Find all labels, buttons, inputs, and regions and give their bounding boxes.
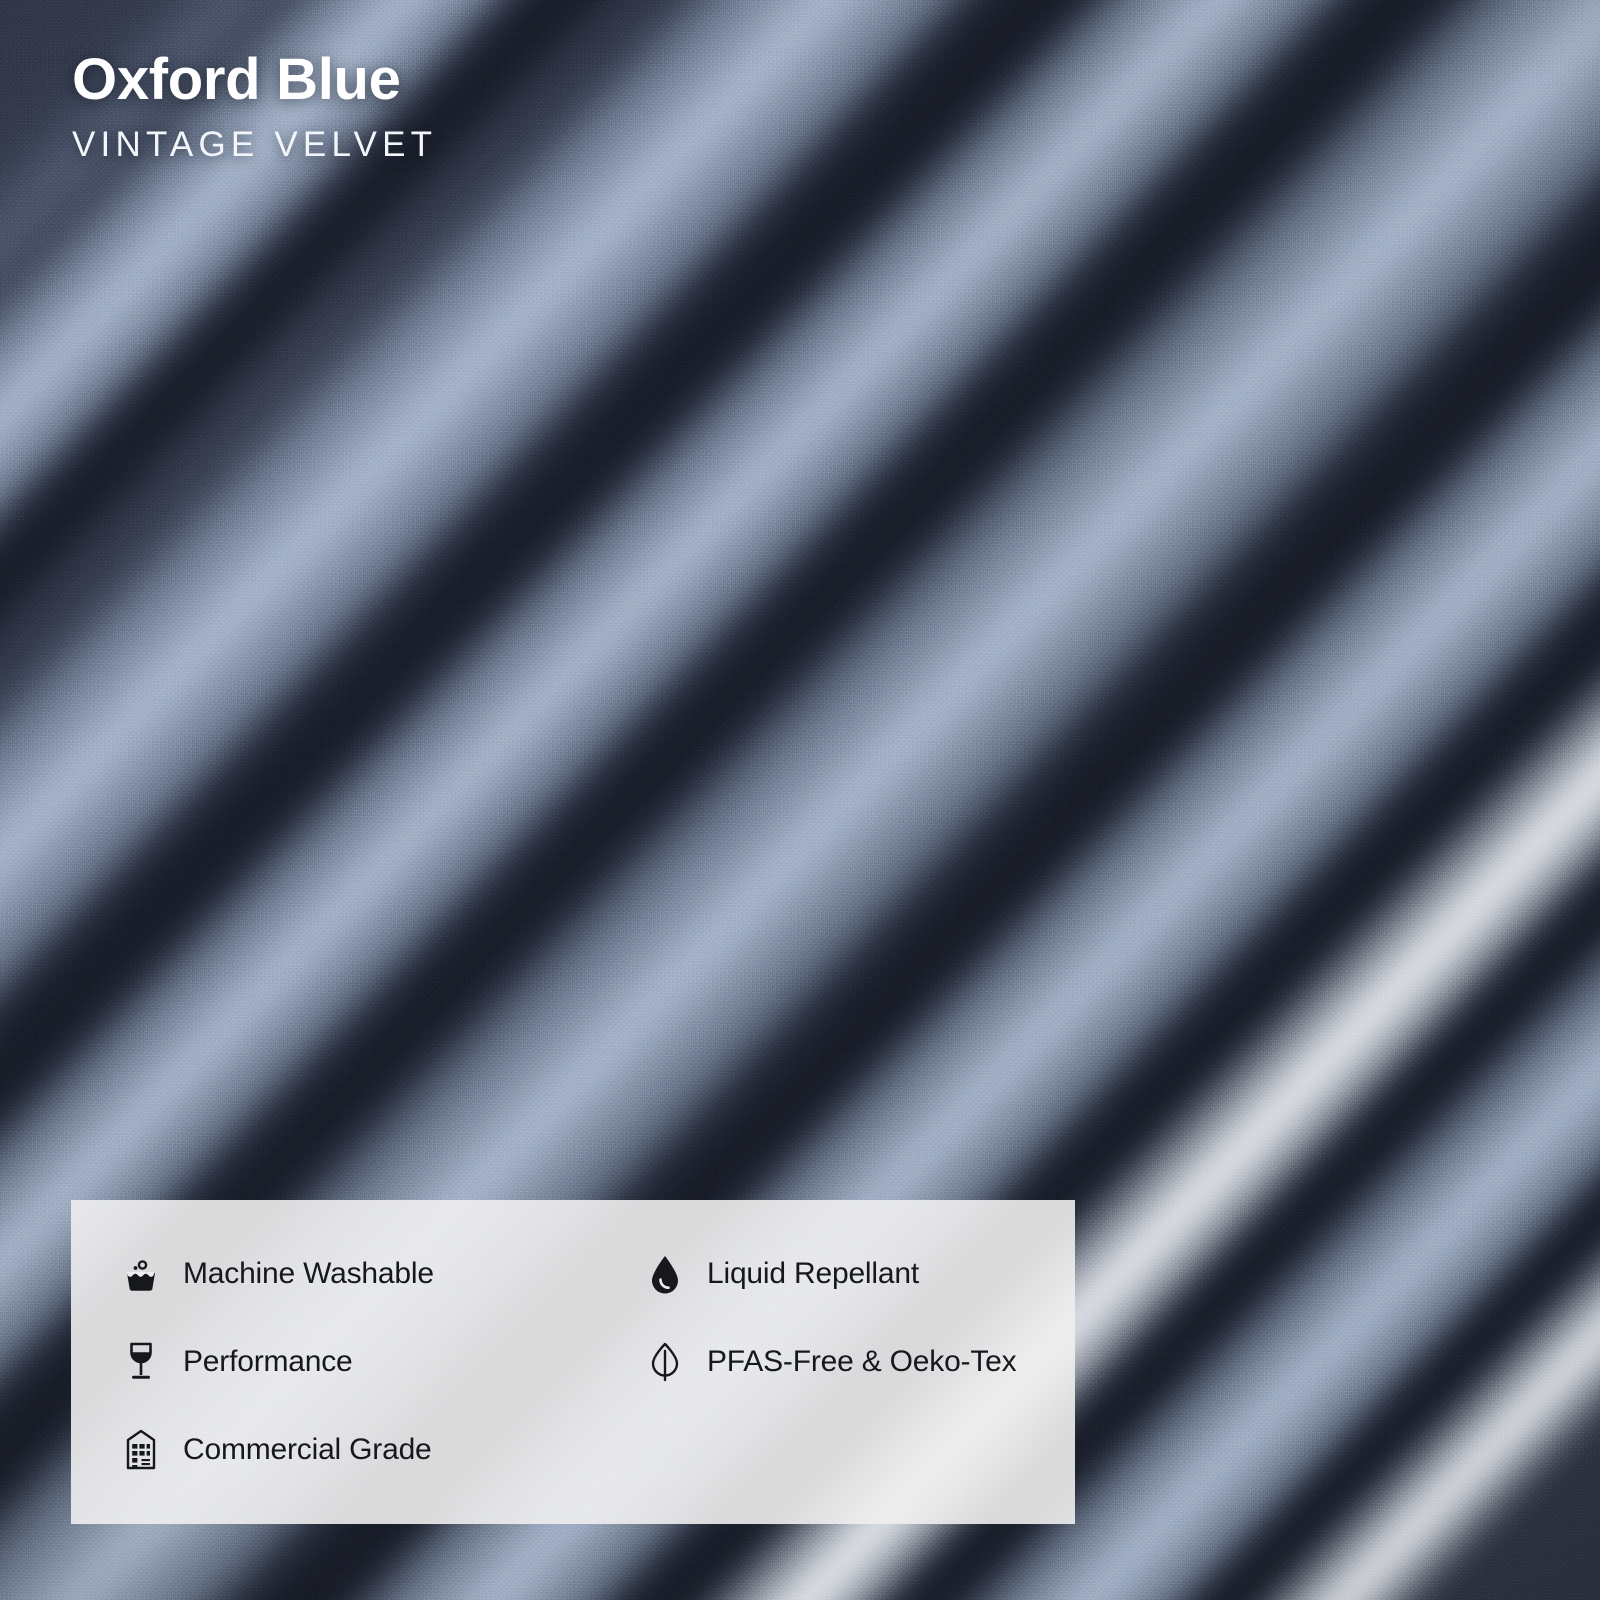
feature-pfas-free-oeko-tex: PFAS-Free & Oeko-Tex <box>595 1318 1075 1406</box>
feature-commercial-grade: Commercial Grade <box>71 1406 595 1494</box>
building-icon <box>121 1428 161 1472</box>
product-name: Oxford Blue <box>72 48 437 112</box>
feature-label: Commercial Grade <box>183 1433 432 1467</box>
feature-performance: Performance <box>71 1318 595 1406</box>
wine-glass-icon <box>121 1340 161 1384</box>
feature-label: Liquid Repellant <box>707 1257 919 1291</box>
feature-label: Performance <box>183 1345 353 1379</box>
water-droplet-icon <box>645 1252 685 1296</box>
feature-panel: Machine Washable Liquid Repellant <box>71 1200 1075 1524</box>
feature-label: Machine Washable <box>183 1257 434 1291</box>
feature-machine-washable: Machine Washable <box>71 1230 595 1318</box>
product-collection: VINTAGE VELVET <box>72 126 437 165</box>
feature-label: PFAS-Free & Oeko-Tex <box>707 1345 1016 1379</box>
leaf-icon <box>645 1340 685 1384</box>
washing-basin-icon <box>121 1252 161 1296</box>
feature-liquid-repellant: Liquid Repellant <box>595 1230 1075 1318</box>
title-block: Oxford Blue VINTAGE VELVET <box>72 48 437 164</box>
product-swatch-image: Oxford Blue VINTAGE VELVET Machine Washa… <box>0 0 1600 1600</box>
